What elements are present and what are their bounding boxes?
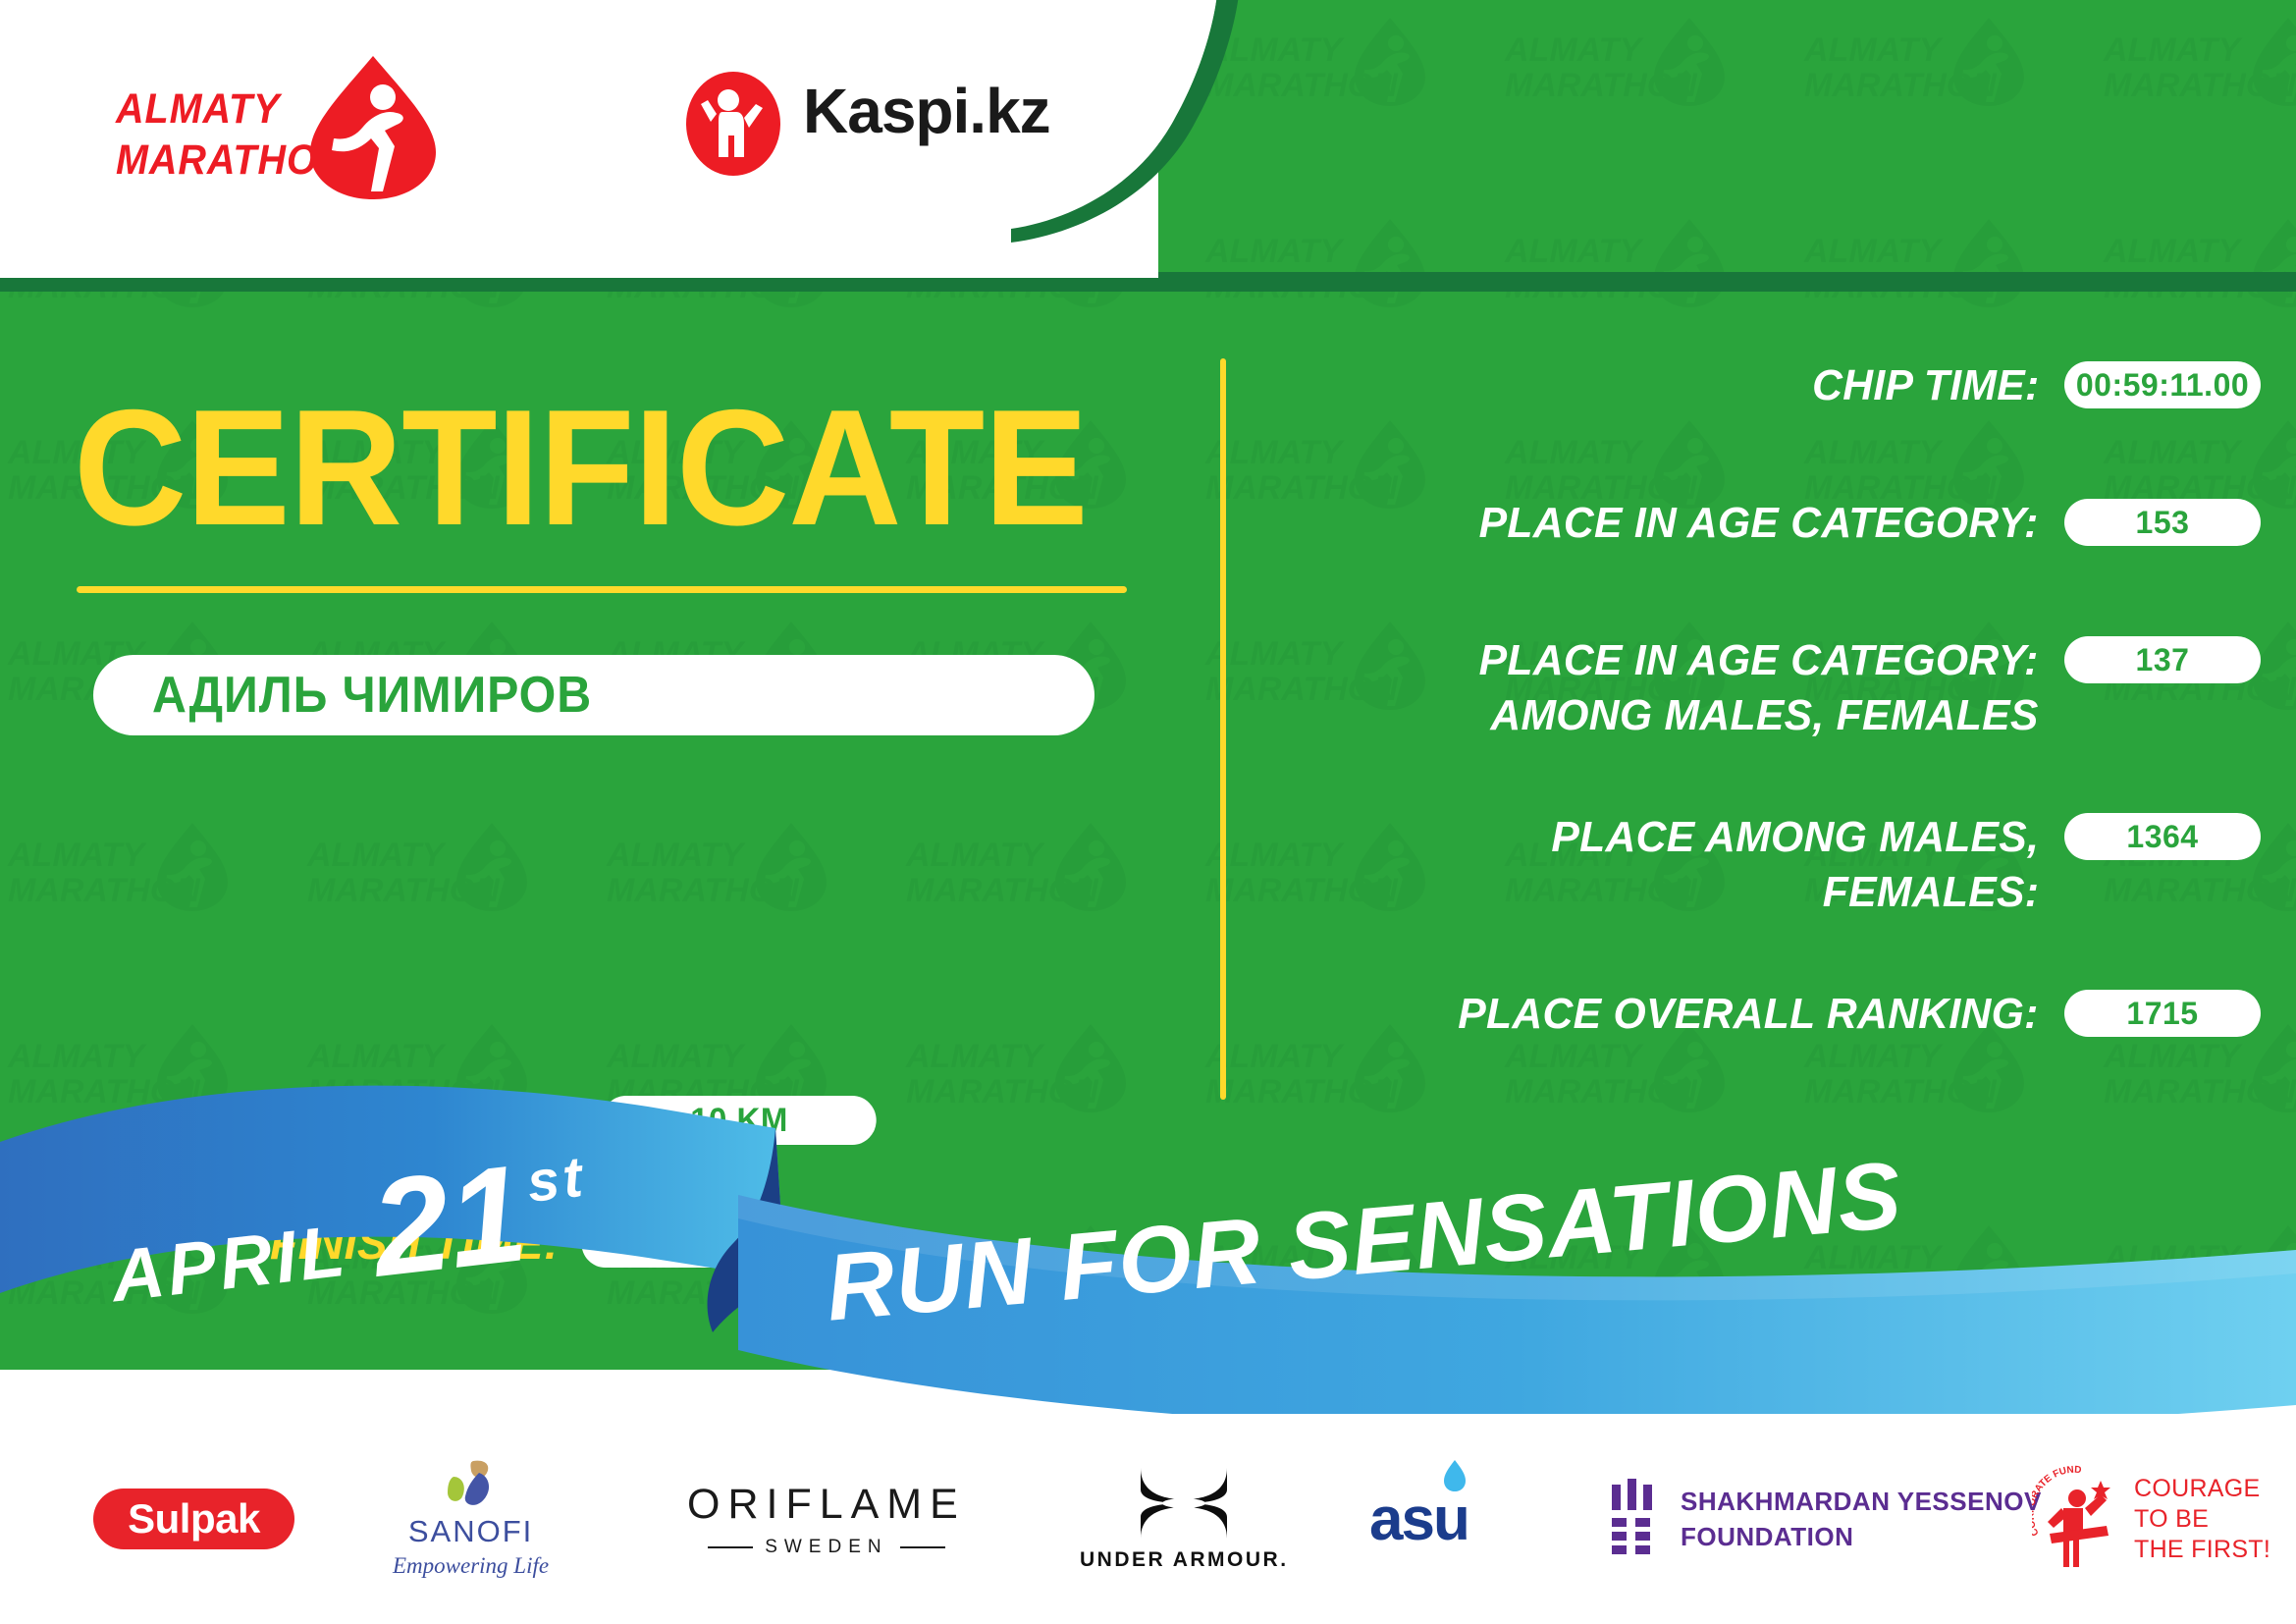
results-column: CHIP TIME: 00:59:11.00 PLACE IN AGE CATE…	[1220, 358, 2261, 1114]
distance-value: 10 KM	[602, 1096, 876, 1145]
header-logos: ALMATY MARATHON Kaspi.kz	[0, 0, 1158, 278]
place-among-gender-value: 1364	[2064, 813, 2261, 860]
sponsor-yessenov: SHAKHMARDAN YESSENOV FOUNDATION	[1610, 1414, 2042, 1624]
ribbon-ordinal: st	[524, 1144, 590, 1216]
sanofi-icon	[440, 1459, 503, 1510]
place-overall-label: PLACE OVERALL RANKING:	[1459, 987, 2039, 1042]
courage-line1: COURAGE	[2134, 1474, 2270, 1504]
oriflame-label: ORIFLAME	[687, 1481, 966, 1529]
sulpak-label: Sulpak	[128, 1495, 260, 1543]
place-age-category-gender-value: 137	[2064, 636, 2261, 683]
sponsor-bar: Sulpak SANOFI Empowering Life ORIFLAME S…	[0, 1414, 2296, 1624]
under-armour-label: UNDER ARMOUR.	[1080, 1548, 1289, 1572]
sanofi-label: SANOFI	[408, 1514, 533, 1549]
place-age-category-value: 153	[2064, 499, 2261, 546]
sponsor-sanofi: SANOFI Empowering Life	[393, 1414, 549, 1624]
yessenov-line1: SHAKHMARDAN YESSENOV	[1681, 1484, 2042, 1519]
sulpak-logo: Sulpak	[93, 1489, 294, 1549]
chip-time-row: CHIP TIME: 00:59:11.00	[1220, 358, 2261, 413]
place-age-category-gender-label: PLACE IN AGE CATEGORY: AMONG MALES, FEMA…	[1479, 633, 2039, 743]
place-among-gender-row: PLACE AMONG MALES, FEMALES: 1364	[1220, 810, 2261, 920]
oriflame-sub-label: SWEDEN	[765, 1537, 887, 1558]
courage-icon: CORPORATE FUND	[2032, 1465, 2122, 1573]
yessenov-label: SHAKHMARDAN YESSENOV FOUNDATION	[1681, 1484, 2042, 1554]
ribbon-day: 21	[366, 1154, 531, 1288]
asu-droplet-icon	[1442, 1459, 1468, 1492]
asu-label: asu	[1369, 1485, 1468, 1554]
sponsor-sulpak: Sulpak	[93, 1414, 294, 1624]
page-title: CERTIFICATE	[74, 385, 1088, 550]
finish-time-value: 01:05:00.00	[581, 1218, 855, 1268]
runner-drop-icon	[302, 54, 445, 201]
place-overall-value: 1715	[2064, 990, 2261, 1037]
chip-time-label: CHIP TIME:	[1812, 358, 2039, 413]
certificate-canvas: ALMATY MARATHON Kaspi.kz CERTIFICATE	[0, 0, 2296, 1624]
place-among-gender-label: PLACE AMONG MALES, FEMALES:	[1551, 810, 2039, 920]
courage-line2: TO BE	[2134, 1504, 2270, 1535]
oriflame-rule-left	[708, 1546, 753, 1548]
sponsor-oriflame: ORIFLAME SWEDEN	[687, 1414, 966, 1624]
courage-line3: THE FIRST!	[2134, 1535, 2270, 1565]
yessenov-icon	[1610, 1479, 1659, 1559]
oriflame-sub-row: SWEDEN	[708, 1537, 944, 1558]
chip-time-value: 00:59:11.00	[2064, 361, 2261, 408]
athlete-name-value: АДИЛЬ ЧИМИРОВ	[152, 666, 592, 725]
kaspi-logo: Kaspi.kz	[677, 71, 1070, 179]
almaty-marathon-logo: ALMATY MARATHON	[116, 54, 430, 191]
sponsor-courage: CORPORATE FUND COURAGE TO BE THE FIRST!	[2032, 1414, 2270, 1624]
place-overall-row: PLACE OVERALL RANKING: 1715	[1220, 987, 2261, 1042]
place-age-category-label: PLACE IN AGE CATEGORY:	[1479, 496, 2039, 551]
place-age-category-row: PLACE IN AGE CATEGORY: 153	[1220, 496, 2261, 551]
distance-row: DISTANCE: 10 KM	[270, 1094, 881, 1147]
sponsor-under-armour: UNDER ARMOUR.	[1080, 1414, 1289, 1624]
place-age-category-gender-row: PLACE IN AGE CATEGORY: AMONG MALES, FEMA…	[1220, 633, 2261, 743]
sponsor-asu: asu	[1369, 1414, 1468, 1624]
oriflame-rule-right	[900, 1546, 945, 1548]
yessenov-line2: FOUNDATION	[1681, 1519, 2042, 1554]
athlete-name-field: АДИЛЬ ЧИМИРОВ	[93, 655, 1095, 735]
title-underline	[77, 586, 1127, 593]
courage-label: COURAGE TO BE THE FIRST!	[2134, 1474, 2270, 1565]
under-armour-icon	[1131, 1466, 1237, 1541]
sanofi-tagline: Empowering Life	[393, 1553, 549, 1579]
kaspi-person-icon	[677, 71, 790, 177]
kaspi-wordmark: Kaspi.kz	[803, 75, 1050, 147]
